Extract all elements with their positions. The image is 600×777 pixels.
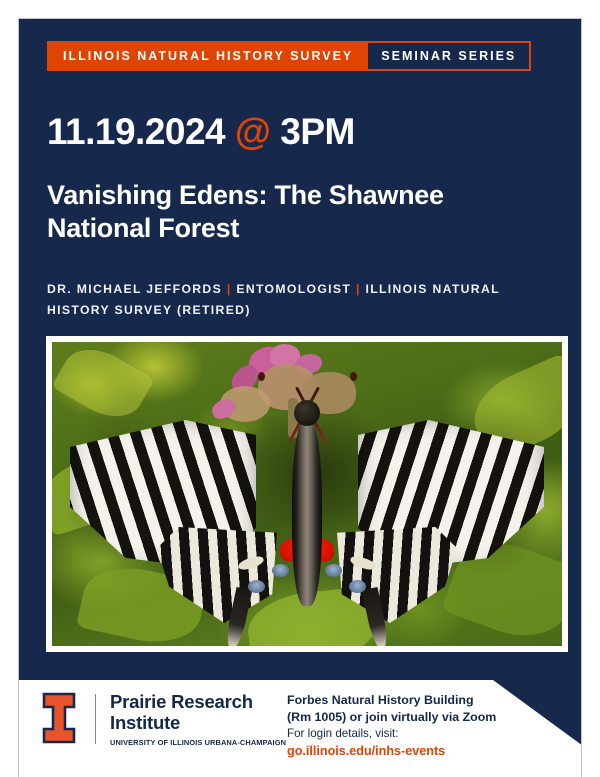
seminar-poster: ILLINOIS NATURAL HISTORY SURVEY SEMINAR … [18,18,582,777]
login-note: For login details, visit: [287,725,537,742]
credit-separator-1: | [227,282,232,296]
survey-name-label: ILLINOIS NATURAL HISTORY SURVEY [49,43,366,69]
butterfly-body [292,416,322,606]
zebra-swallowtail-butterfly [52,342,562,646]
blue-spot-right-outer [349,580,366,593]
butterfly-head [294,400,320,426]
venue-room-and-zoom: (Rm 1005) or join virtually via Zoom [287,709,537,726]
hindwing-left [157,527,277,623]
seminar-title: Vanishing Edens: The Shawnee National Fo… [47,179,547,245]
blue-spot-left-inner [272,564,289,577]
series-label-bar: ILLINOIS NATURAL HISTORY SURVEY SEMINAR … [47,41,531,71]
venue-building: Forbes Natural History Building [287,692,537,709]
antenna-club-left [258,372,265,381]
blue-spot-right-inner [325,564,342,577]
at-symbol: @ [235,111,271,152]
logo-divider [95,694,96,744]
institute-text-block: Prairie Research Institute UNIVERSITY OF… [110,692,286,747]
credit-separator-2: | [356,282,361,296]
blue-spot-left-outer [248,580,265,593]
photo-frame [46,336,568,652]
event-datetime: 11.19.2024 @ 3PM [47,111,355,153]
poster-footer: Prairie Research Institute UNIVERSITY OF… [19,680,582,777]
seminar-series-label: SEMINAR SERIES [366,43,529,69]
prairie-research-institute-logo: Prairie Research Institute UNIVERSITY OF… [39,692,286,747]
institute-name: Prairie Research Institute [110,692,286,733]
university-line: UNIVERSITY OF ILLINOIS URBANA-CHAMPAIGN [110,738,286,747]
butterfly-photo [52,342,562,646]
venue-details: Forbes Natural History Building (Rm 1005… [287,692,537,760]
speaker-role: ENTOMOLOGIST [236,282,351,296]
event-date: 11.19.2024 [47,111,225,152]
speaker-credits: DR. MICHAEL JEFFORDS | ENTOMOLOGIST | IL… [47,279,557,322]
speaker-name: DR. MICHAEL JEFFORDS [47,282,222,296]
antenna-club-right [350,372,357,381]
hindwing-right [337,527,457,623]
block-i-icon [39,692,79,744]
events-url[interactable]: go.illinois.edu/inhs-events [287,743,537,760]
event-time: 3PM [280,111,355,152]
